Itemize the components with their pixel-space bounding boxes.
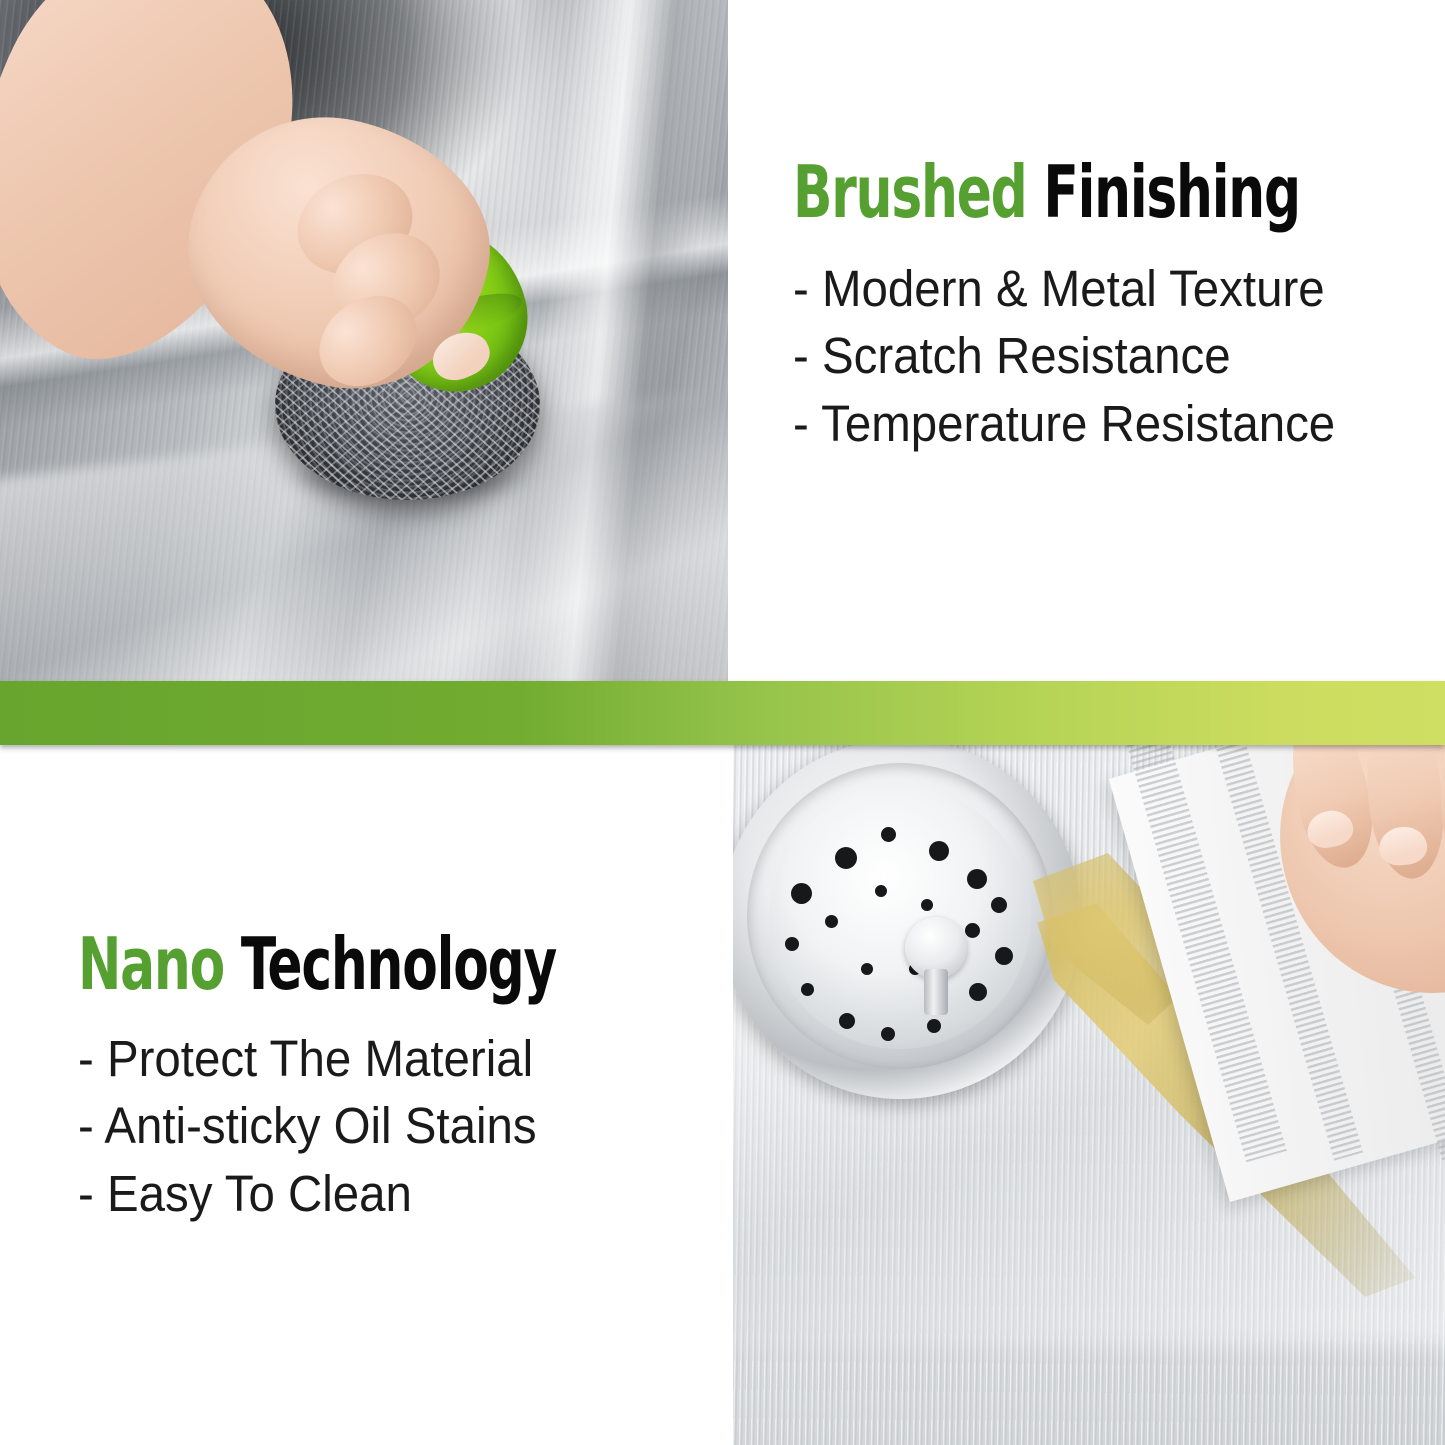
photo-wiping-oil-stain xyxy=(733,745,1445,1445)
feature-item: - Anti-sticky Oil Stains xyxy=(78,1092,655,1159)
drain-strainer-basket xyxy=(769,787,1031,1049)
strainer-hole xyxy=(967,869,987,889)
strainer-hole xyxy=(929,841,949,861)
strainer-hole xyxy=(991,897,1007,913)
feature-item: - Modern & Metal Texture xyxy=(793,255,1370,322)
green-divider-band xyxy=(0,681,1445,745)
strainer-hole xyxy=(995,947,1013,965)
feature-item: - Scratch Resistance xyxy=(793,322,1370,389)
headline-accent-word: Brushed xyxy=(793,150,1027,234)
strainer-hole xyxy=(921,899,933,911)
feature-item: - Easy To Clean xyxy=(78,1160,655,1227)
strainer-hole xyxy=(965,923,980,938)
strainer-hole xyxy=(801,983,814,996)
feature-item: - Protect The Material xyxy=(78,1025,655,1092)
section-brushed-finishing: Brushed Finishing - Modern & Metal Textu… xyxy=(793,158,1413,457)
strainer-hole xyxy=(969,983,987,1001)
strainer-hole xyxy=(875,885,887,897)
strainer-hole xyxy=(791,883,812,904)
feature-list-nano: - Protect The Material - Anti-sticky Oil… xyxy=(78,1025,698,1227)
strainer-hole xyxy=(927,1019,941,1033)
strainer-hole xyxy=(861,963,873,975)
strainer-hole xyxy=(835,847,857,869)
strainer-hole xyxy=(825,915,838,928)
strainer-hole xyxy=(785,937,799,951)
headline-nano-technology: Nano Technology xyxy=(78,930,574,999)
strainer-stem xyxy=(924,969,948,1015)
headline-main-word: Finishing xyxy=(1043,150,1300,234)
headline-accent-word: Nano xyxy=(78,922,224,1006)
feature-item: - Temperature Resistance xyxy=(793,390,1370,457)
product-infographic: Brushed Finishing - Modern & Metal Textu… xyxy=(0,0,1445,1445)
strainer-hole xyxy=(881,827,896,842)
feature-list-brushed: - Modern & Metal Texture - Scratch Resis… xyxy=(793,255,1413,457)
strainer-hole xyxy=(881,1027,895,1041)
headline-main-word: Technology xyxy=(241,922,556,1006)
headline-brushed-finishing: Brushed Finishing xyxy=(793,158,1289,227)
section-nano-technology: Nano Technology - Protect The Material -… xyxy=(78,930,698,1227)
photo-scrubber-in-sink xyxy=(0,0,728,683)
strainer-hole xyxy=(839,1013,855,1029)
